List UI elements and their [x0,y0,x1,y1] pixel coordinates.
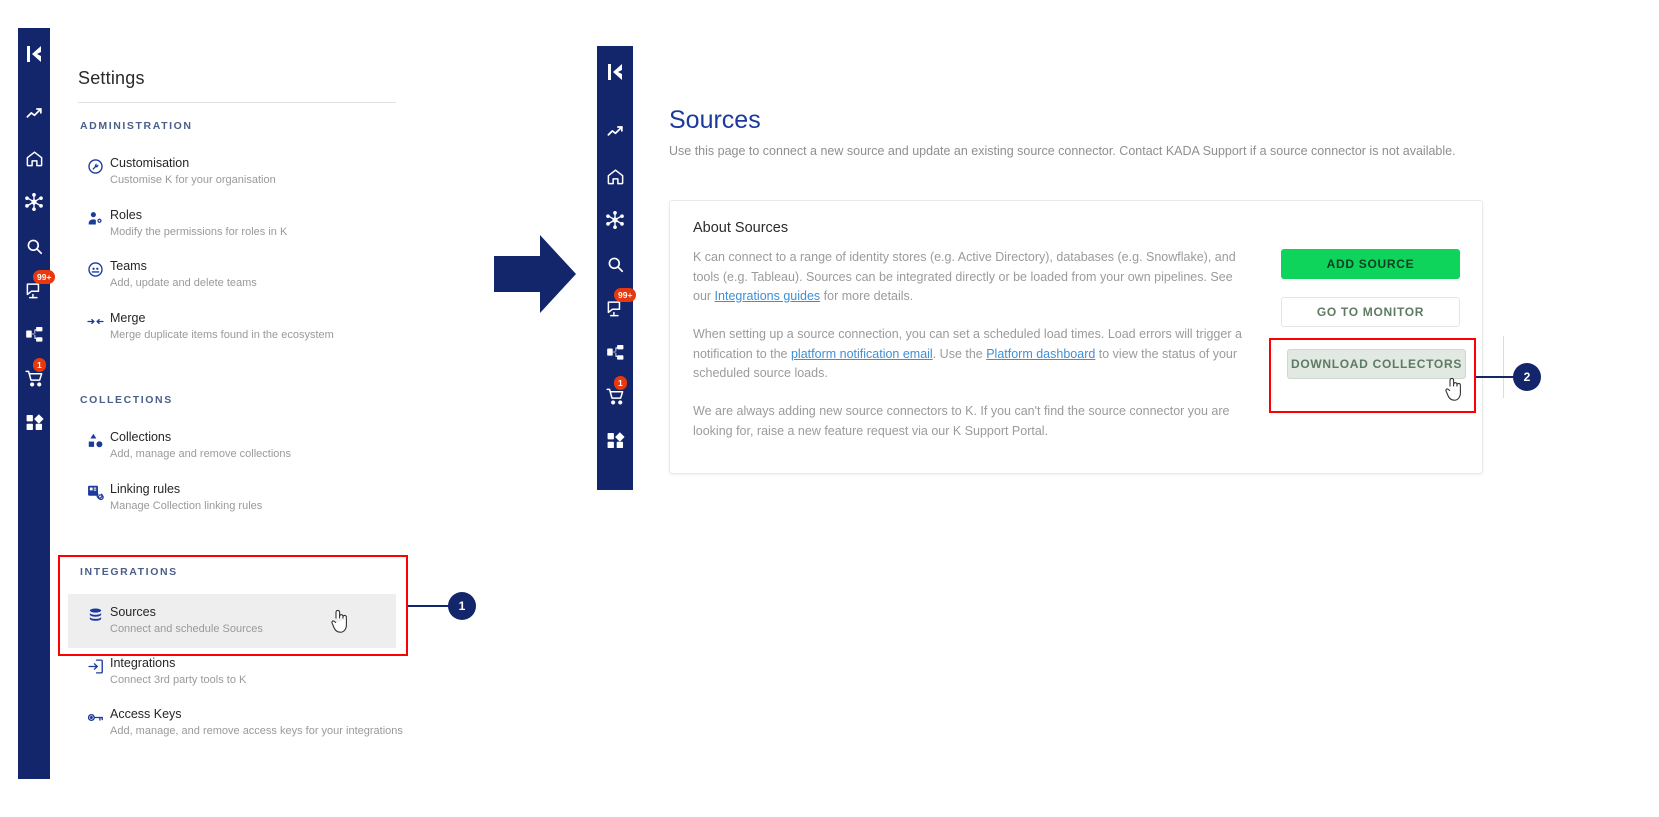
link-rules-icon [80,482,110,501]
sidebar-item-linking-rules[interactable]: Linking rules Manage Collection linking … [80,476,396,520]
rail-badge-comments: 99+ [33,270,55,284]
platform-dashboard-link[interactable]: Platform dashboard [986,347,1095,361]
callout-line-2 [1476,376,1514,378]
rail-badge-comments: 99+ [614,288,636,302]
callout-line-1 [408,605,453,607]
rail-item-search[interactable] [18,227,50,265]
wrench-circle-icon [80,156,110,175]
paragraph-1-text-b: for more details. [820,289,913,303]
about-paragraph-2: When setting up a source connection, you… [693,325,1249,384]
rail-item-dashboard[interactable] [18,403,50,441]
sources-page-title: Sources [669,106,761,135]
rail-item-cart[interactable]: 1 [599,377,631,415]
settings-screenshot: 99+ 1 Settings ADMINISTRATION Customisat… [0,28,420,817]
title-divider [78,102,396,103]
sidebar-item-roles[interactable]: Roles Modify the permissions for roles i… [80,202,396,246]
callout-badge-2: 2 [1513,363,1541,391]
teams-circle-icon [80,259,110,278]
sidebar-item-title: Roles [110,208,287,223]
rail-item-search[interactable] [599,245,631,283]
paragraph-2-text-b: . Use the [933,347,987,361]
sidebar-item-subtitle: Manage Collection linking rules [110,499,262,514]
highlight-box-download-collectors [1269,338,1476,413]
rail-badge-cart: 1 [33,358,46,372]
sidebar-item-title: Integrations [110,656,246,671]
sidebar-item-subtitle: Merge duplicate items found in the ecosy… [110,328,334,343]
sidebar-item-subtitle: Modify the permissions for roles in K [110,225,287,240]
sidebar-item-subtitle: Add, manage, and remove access keys for … [110,724,403,739]
about-sources-heading: About Sources [693,220,788,236]
sidebar-item-merge[interactable]: Merge Merge duplicate items found in the… [80,305,396,349]
go-to-monitor-button[interactable]: GO TO MONITOR [1281,297,1460,327]
rail-item-trending-up[interactable] [18,95,50,133]
sidebar-item-subtitle: Add, manage and remove collections [110,447,291,462]
rail-item-comments[interactable]: 99+ [18,271,50,309]
rail-item-home[interactable] [599,157,631,195]
shapes-icon [80,430,110,449]
sources-page-subtitle: Use this page to connect a new source an… [669,142,1459,161]
integrations-guides-link[interactable]: Integrations guides [715,289,821,303]
left-app-rail: 99+ 1 [18,28,50,779]
sidebar-item-title: Customisation [110,156,276,171]
sidebar-item-integrations[interactable]: Integrations Connect 3rd party tools to … [80,650,396,694]
card-vertical-divider [1503,336,1504,398]
user-gear-icon [80,208,110,227]
sidebar-item-subtitle: Customise K for your organisation [110,173,276,188]
add-source-button[interactable]: ADD SOURCE [1281,249,1460,279]
sidebar-item-customisation[interactable]: Customisation Customise K for your organ… [80,150,396,194]
kada-logo-icon[interactable] [605,62,625,87]
merge-arrows-icon [80,311,110,330]
highlight-box-sources [58,555,408,656]
sidebar-item-title: Linking rules [110,482,262,497]
rail-item-trending-up[interactable] [599,113,631,151]
sidebar-item-teams[interactable]: Teams Add, update and delete teams [80,253,396,297]
rail-item-hierarchy[interactable] [599,333,631,371]
page-title: Settings [78,68,145,89]
flow-arrow-icon [490,228,580,320]
about-paragraph-1: K can connect to a range of identity sto… [693,248,1249,307]
sidebar-item-collections[interactable]: Collections Add, manage and remove colle… [80,424,396,468]
rail-item-cart[interactable]: 1 [18,359,50,397]
kada-logo-icon[interactable] [24,44,44,69]
sidebar-item-subtitle: Add, update and delete teams [110,276,257,291]
rail-item-network-hub[interactable] [18,183,50,221]
rail-badge-cart: 1 [614,376,627,390]
sidebar-item-subtitle: Connect 3rd party tools to K [110,673,246,688]
platform-notification-email-link[interactable]: platform notification email [791,347,933,361]
about-paragraph-3: We are always adding new source connecto… [693,402,1263,441]
key-icon [80,707,110,726]
rail-item-comments[interactable]: 99+ [599,289,631,327]
rail-item-home[interactable] [18,139,50,177]
rail-item-dashboard[interactable] [599,421,631,459]
sidebar-item-title: Access Keys [110,707,403,722]
right-app-rail: 99+ 1 [597,46,633,490]
sidebar-item-access-keys[interactable]: Access Keys Add, manage, and remove acce… [80,701,440,745]
sidebar-item-title: Collections [110,430,291,445]
arrow-into-box-icon [80,656,110,675]
rail-item-network-hub[interactable] [599,201,631,239]
sidebar-item-title: Merge [110,311,334,326]
section-label-administration: ADMINISTRATION [80,120,193,132]
section-label-collections: COLLECTIONS [80,394,173,406]
sidebar-item-title: Teams [110,259,257,274]
callout-badge-1: 1 [448,592,476,620]
rail-item-hierarchy[interactable] [18,315,50,353]
